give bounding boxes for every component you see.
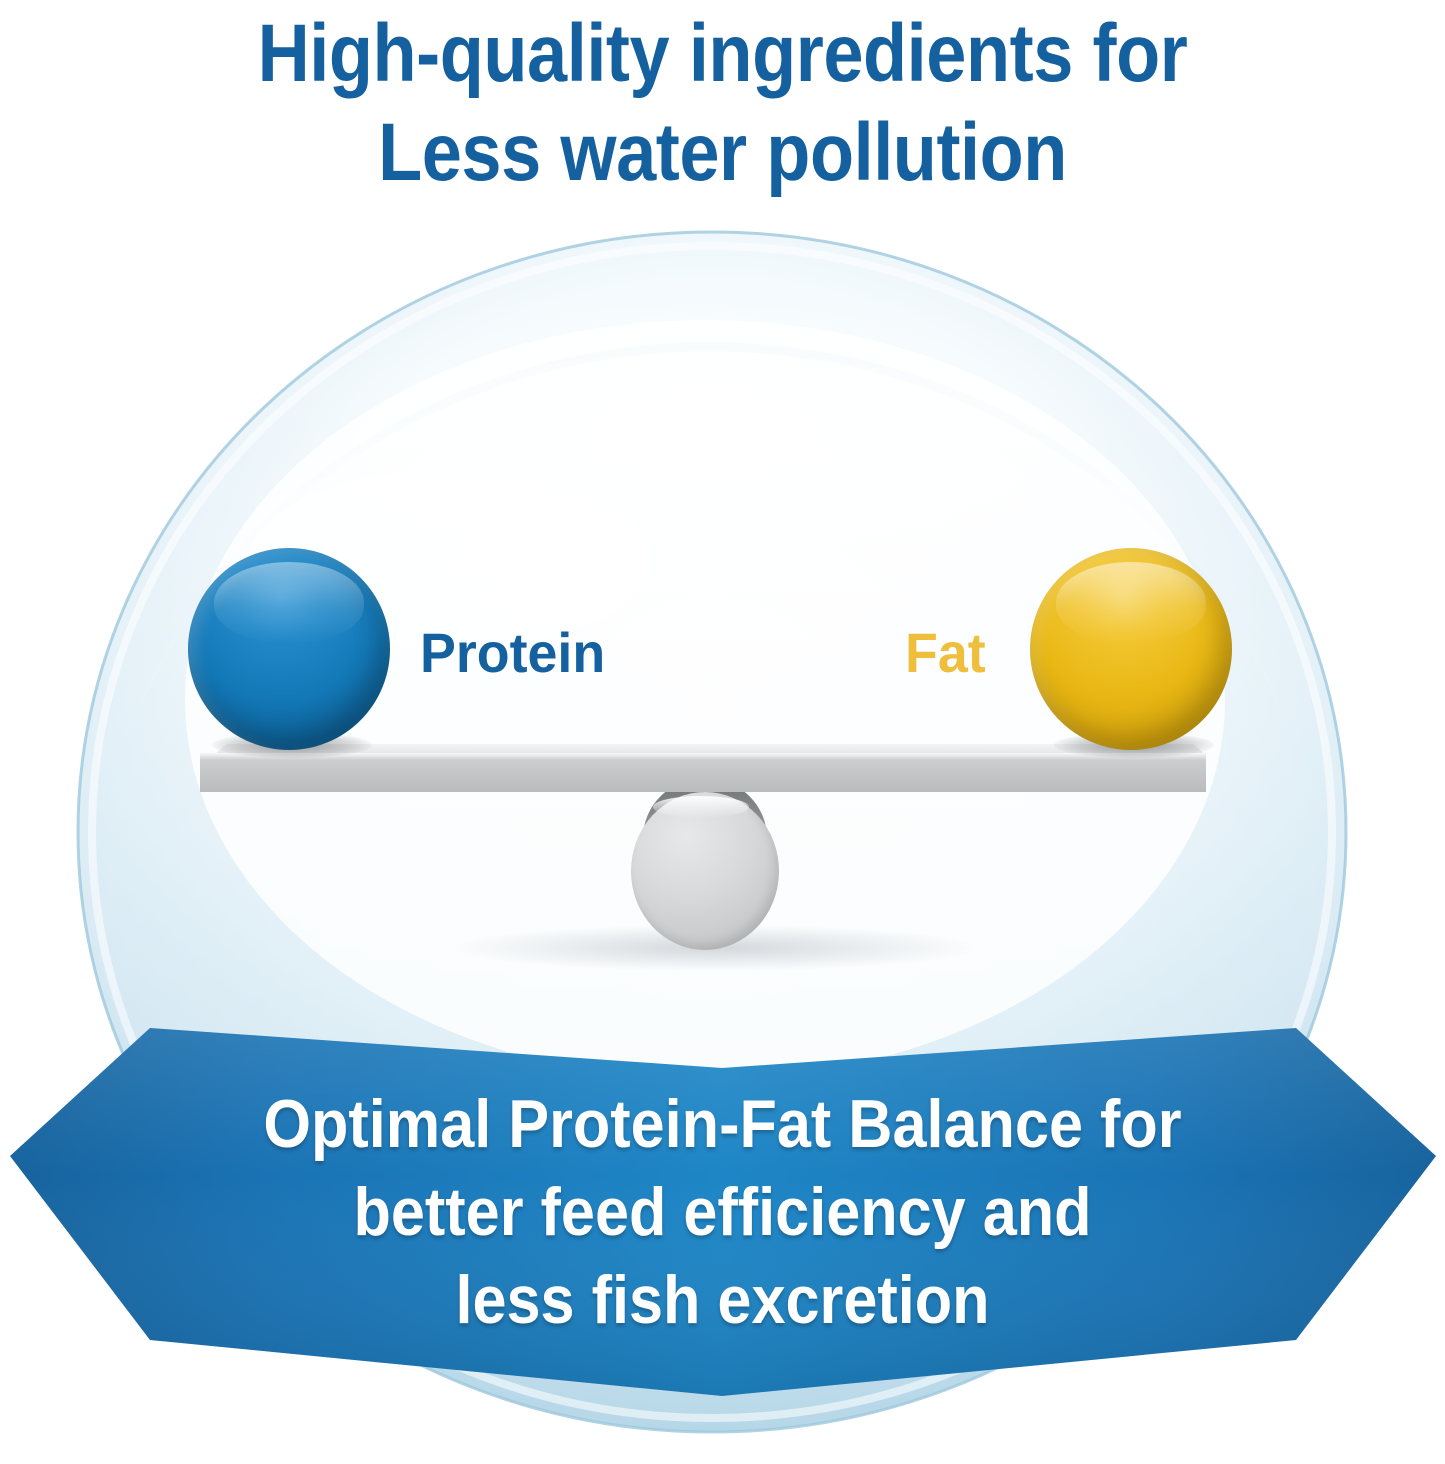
fulcrum-cylinder xyxy=(625,778,785,953)
infographic-canvas: High-quality ingredients for Less water … xyxy=(0,0,1445,1464)
banner-ribbon xyxy=(0,1024,1445,1400)
fat-label: Fat xyxy=(905,625,986,681)
headline-line-2: Less water pollution xyxy=(87,103,1359,202)
banner-shape xyxy=(0,1024,1445,1400)
protein-label: Protein xyxy=(420,625,605,681)
plank-edge-shine xyxy=(200,753,1206,760)
headline-line-1: High-quality ingredients for xyxy=(258,8,1188,99)
protein-ball-rim xyxy=(188,548,390,750)
fat-ball xyxy=(1030,548,1232,750)
fulcrum-highlight xyxy=(653,796,749,818)
fat-ball-rim xyxy=(1030,548,1232,750)
protein-ball xyxy=(188,548,390,750)
page-title: High-quality ingredients for Less water … xyxy=(87,4,1359,202)
